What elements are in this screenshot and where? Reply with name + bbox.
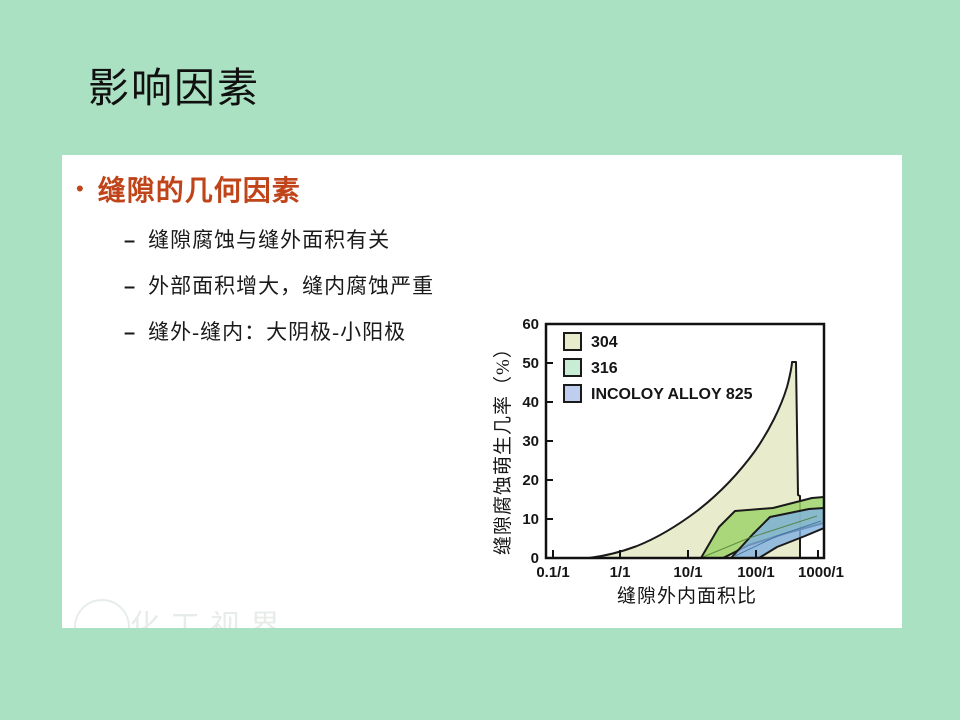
- bullet-item-label: 外部面积增大，缝内腐蚀严重: [148, 271, 434, 301]
- bullet-item: – 缝隙腐蚀与缝外面积有关: [124, 225, 540, 255]
- bullet-list: • 缝隙的几何因素 – 缝隙腐蚀与缝外面积有关 – 外部面积增大，缝内腐蚀严重 …: [70, 173, 540, 347]
- bullet-item-label: 缝外-缝内：大阴极-小阳极: [148, 317, 406, 347]
- y-tick-label: 30: [522, 433, 539, 450]
- x-tick-label: 0.1/1: [536, 564, 569, 581]
- bullet-marker-dot: •: [76, 178, 84, 200]
- y-tick-label: 20: [522, 472, 539, 489]
- watermark-label: 化工视界: [130, 601, 290, 628]
- bullet-item: – 缝外-缝内：大阴极-小阳极: [124, 317, 540, 347]
- bullet-marker-dash: –: [124, 273, 135, 301]
- x-tick-label: 100/1: [737, 564, 775, 581]
- content-card: • 缝隙的几何因素 – 缝隙腐蚀与缝外面积有关 – 外部面积增大，缝内腐蚀严重 …: [62, 155, 902, 628]
- chart-svg: 缝隙腐蚀萌生几率（%） 60 50 40 30 20 10 0: [487, 295, 899, 613]
- bullet-item-label: 缝隙腐蚀与缝外面积有关: [148, 225, 390, 255]
- x-tick-label: 1/1: [610, 564, 631, 581]
- x-tick-label: 1000/1: [798, 564, 844, 581]
- y-tick-label: 10: [522, 511, 539, 528]
- x-tick-label: 10/1: [673, 564, 702, 581]
- bullet-item: – 外部面积增大，缝内腐蚀严重: [124, 271, 540, 301]
- bullet-heading: • 缝隙的几何因素: [76, 173, 540, 209]
- x-axis-title: 缝隙外内面积比: [617, 585, 757, 607]
- y-tick-label: 60: [522, 316, 539, 333]
- legend-swatch-825: [564, 385, 581, 402]
- crevice-corrosion-chart: 缝隙腐蚀萌生几率（%） 60 50 40 30 20 10 0: [487, 295, 899, 613]
- watermark-arc-icon: [74, 599, 130, 628]
- legend-label-304: 304: [591, 334, 618, 351]
- y-tick-label: 50: [522, 355, 539, 372]
- bullet-marker-dash: –: [124, 227, 135, 255]
- legend-swatch-316: [564, 359, 581, 376]
- watermark: 化工视界: [68, 595, 408, 628]
- bullet-marker-dash: –: [124, 319, 135, 347]
- page-title: 影响因素: [88, 64, 260, 112]
- bullet-heading-label: 缝隙的几何因素: [98, 173, 301, 209]
- legend-label-825: INCOLOY ALLOY 825: [591, 386, 753, 403]
- y-tick-label: 40: [522, 394, 539, 411]
- legend-swatch-304: [564, 333, 581, 350]
- legend-label-316: 316: [591, 360, 618, 377]
- y-axis-title: 缝隙腐蚀萌生几率（%）: [492, 338, 514, 555]
